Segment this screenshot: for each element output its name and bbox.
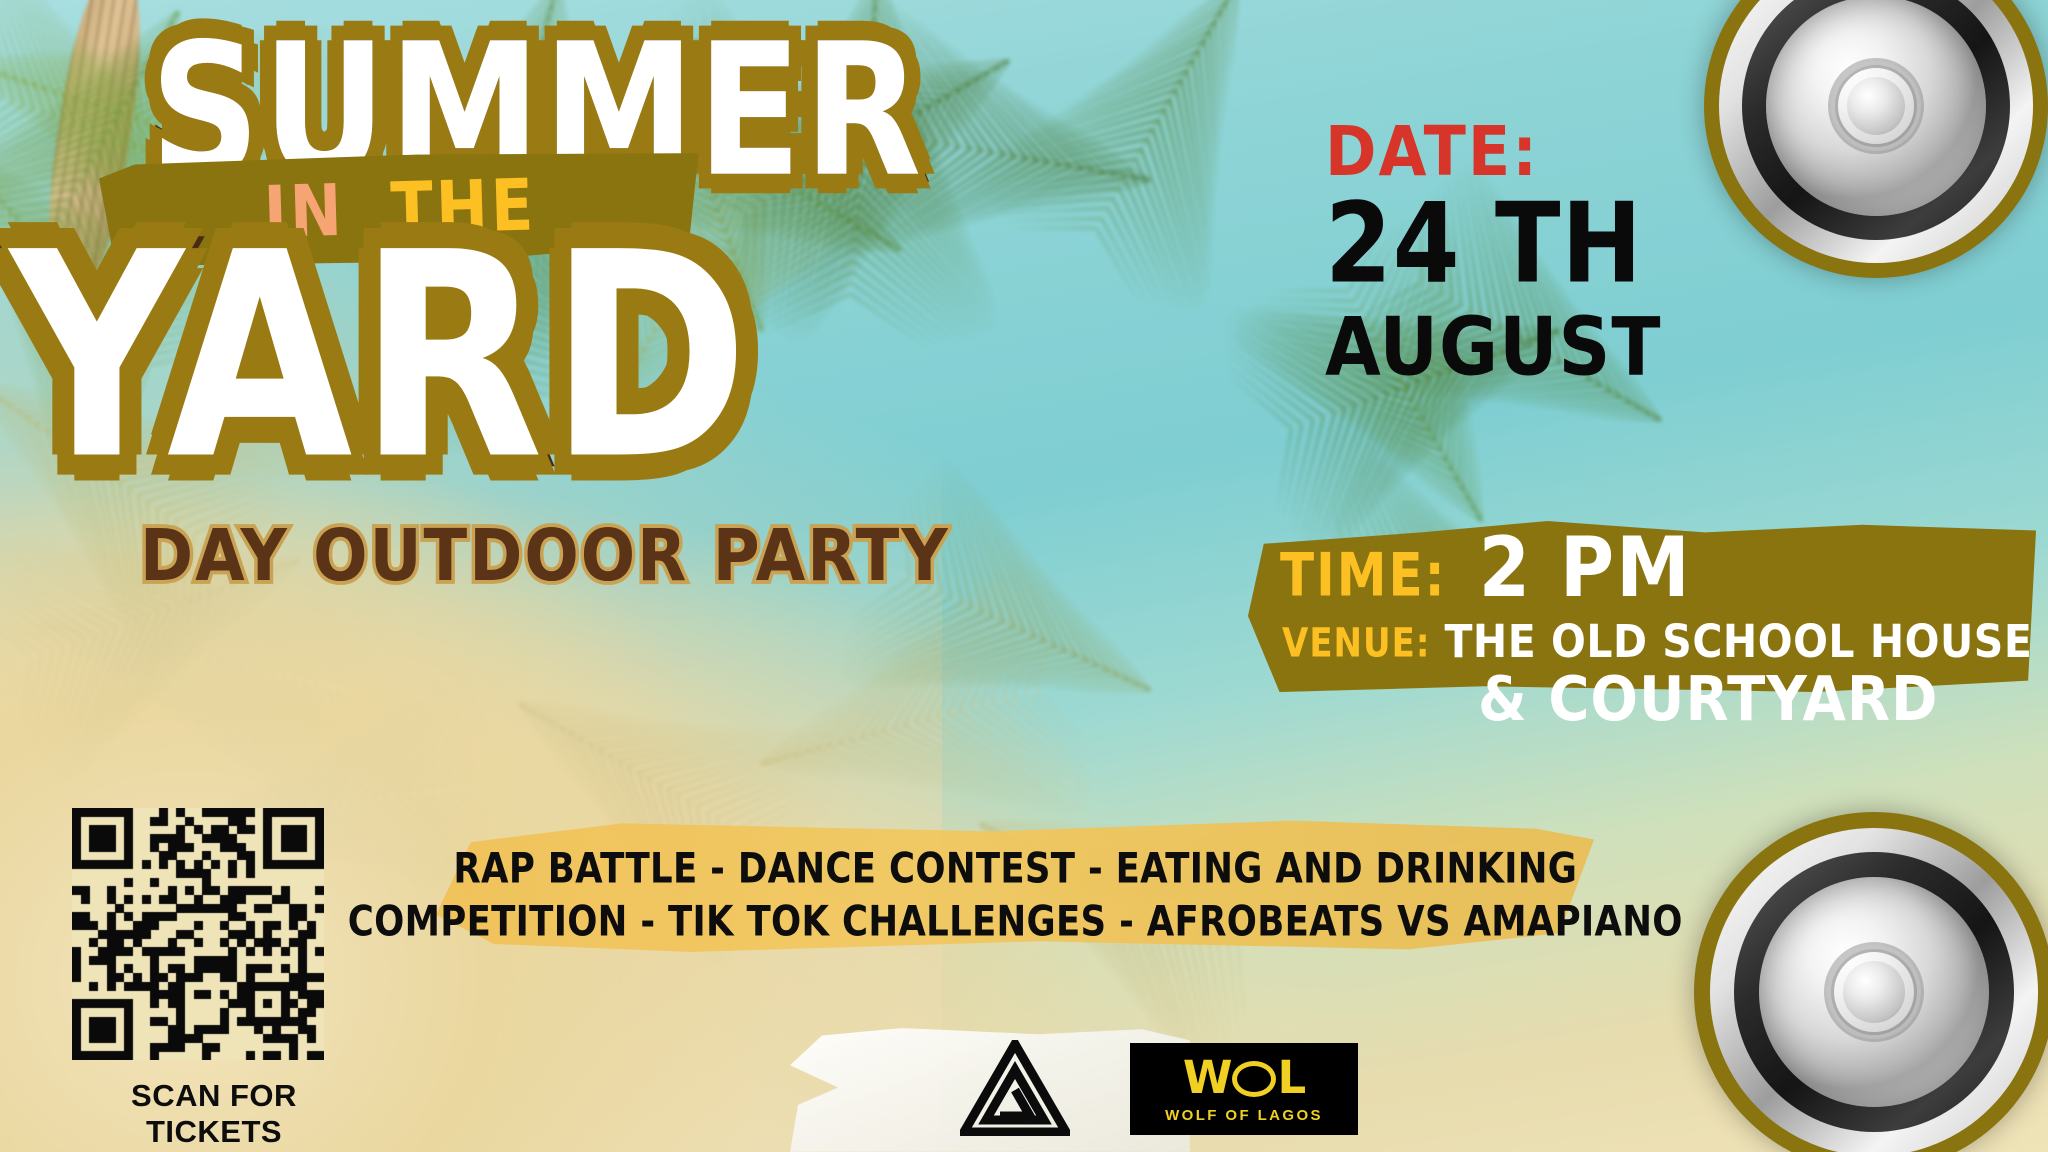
time-row: TIME: 2 PM [1280,530,1692,616]
title-word-yard: YARD [10,215,755,498]
activities-line-2: COMPETITION - TIK TOK CHALLENGES - AFROB… [348,897,1683,946]
qr-code-image[interactable] [72,808,324,1060]
wol-subtitle: WOLF OF LAGOS [1165,1107,1323,1124]
date-label: DATE: [1325,118,1745,186]
venue-label: VENUE: [1282,620,1430,667]
speaker-dustcap [1847,77,1906,136]
time-value: 2 PM [1479,520,1692,616]
title-block: SUMMER [150,20,910,170]
subtitle-text: DAY OUTDOOR PARTY [140,515,950,598]
wolf-head-icon [1232,1061,1276,1097]
wol-monogram: W L [1183,1055,1305,1100]
date-block: DATE: 24 TH AUGUST [1325,118,1745,380]
speaker-cone-bottom-right [1694,812,2048,1152]
speaker-dustcap [1843,961,1904,1022]
qr-code[interactable] [72,808,324,1060]
venue-name-line1: THE OLD SCHOOL HOUSE [1444,615,2032,668]
activities-text: RAP BATTLE - DANCE CONTEST - EATING AND … [436,838,1594,952]
date-month-value: AUGUST [1325,305,1745,390]
venue-row: VENUE: THE OLD SCHOOL HOUSE [1282,620,2032,668]
wol-letter-l: L [1277,1055,1305,1100]
wolf-of-lagos-logo: W L WOLF OF LAGOS [1130,1043,1358,1135]
date-day-value: 24 TH [1325,186,1745,302]
event-flyer: SUMMER IN THE YARD DAY OUTDOOR PARTY DAT… [0,0,2048,1152]
triangle-spiral-logo [960,1040,1070,1136]
scan-for-tickets-label: SCAN FOR TICKETS [64,1078,364,1150]
time-label: TIME: [1280,540,1447,610]
activities-line-1: RAP BATTLE - DANCE CONTEST - EATING AND … [453,844,1577,893]
wol-letter-w: W [1183,1055,1232,1100]
venue-name-line2: & COURTYARD [1478,664,1938,736]
